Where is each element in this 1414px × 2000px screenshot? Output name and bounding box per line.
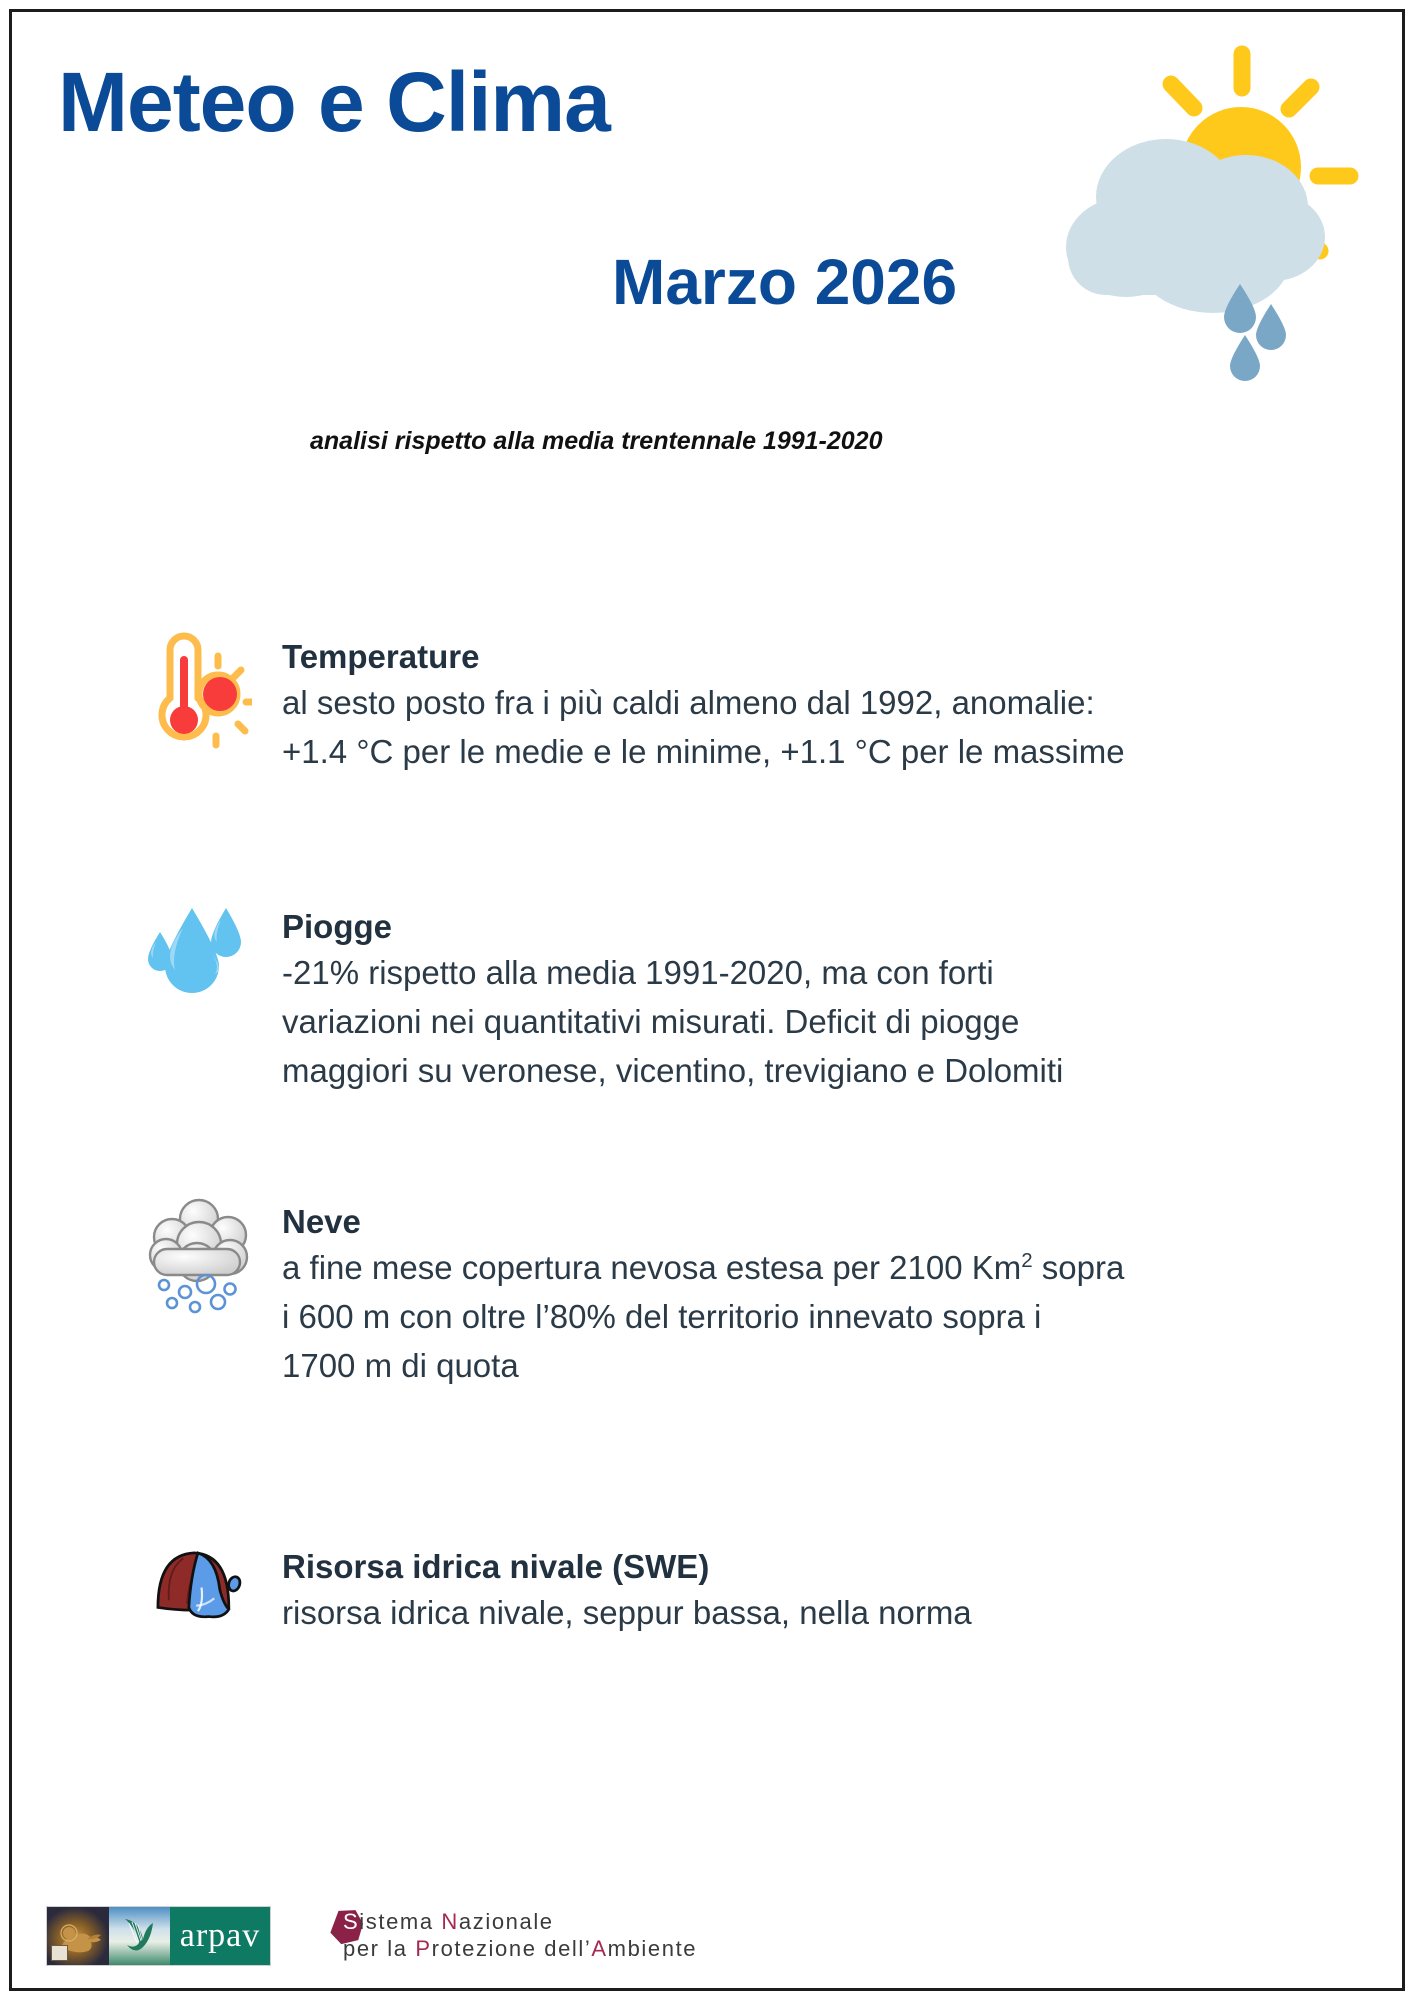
section-line: maggiori su veronese, vicentino, trevigi…	[282, 1047, 1372, 1096]
snpa-text-part: istema	[359, 1909, 441, 1934]
venetian-lion-icon	[47, 1907, 109, 1965]
raindrops-icon	[142, 902, 260, 1032]
snow-cloud-icon	[142, 1197, 260, 1327]
section-heading: Neve	[282, 1201, 1372, 1242]
lion-book-icon	[51, 1945, 68, 1961]
month-title: Marzo 2026	[612, 250, 957, 314]
page-title: Meteo e Clima	[58, 60, 610, 144]
arpav-logo: arpav	[46, 1906, 271, 1966]
section-heading: Risorsa idrica nivale (SWE)	[282, 1546, 1372, 1587]
thermometer-sun-icon	[142, 632, 260, 762]
section-heading: Piogge	[282, 906, 1372, 947]
section-swe-body: Risorsa idrica nivale (SWE) risorsa idri…	[260, 1542, 1372, 1638]
section-piogge-body: Piogge -21% rispetto alla media 1991-202…	[260, 902, 1372, 1096]
section-line: 1700 m di quota	[282, 1342, 1372, 1391]
snpa-a-initial: A	[591, 1936, 607, 1961]
snpa-logo: Sistema Nazionale per la Protezione dell…	[329, 1909, 697, 1963]
snpa-text-part: per la	[343, 1936, 415, 1961]
section-heading: Temperature	[282, 636, 1372, 677]
snpa-line-1: Sistema Nazionale	[343, 1909, 697, 1936]
section-swe: Risorsa idrica nivale (SWE) risorsa idri…	[142, 1542, 1372, 1672]
section-line: a fine mese copertura nevosa estesa per …	[282, 1244, 1372, 1293]
arpav-wordmark: arpav	[170, 1907, 270, 1965]
footer: arpav Sistema Nazionale per la Protezion…	[46, 1906, 697, 1966]
snow-water-equivalent-icon	[142, 1542, 260, 1672]
section-line: risorsa idrica nivale, seppur bassa, nel…	[282, 1589, 1372, 1638]
section-line: al sesto posto fra i più caldi almeno da…	[282, 679, 1372, 728]
sun-cloud-rain-icon	[1028, 32, 1378, 392]
section-neve-body: Neve a fine mese copertura nevosa estesa…	[260, 1197, 1372, 1391]
snpa-s-initial: S	[343, 1909, 359, 1934]
section-temperature-body: Temperature al sesto posto fra i più cal…	[260, 632, 1372, 777]
poster-frame: Meteo e Clima Marzo 2026 analisi rispett…	[9, 9, 1405, 1991]
snpa-n-initial: N	[441, 1909, 459, 1934]
snpa-line-2: per la Protezione dell’Ambiente	[343, 1936, 697, 1963]
snpa-text-part: mbiente	[608, 1936, 697, 1961]
poster-page: Meteo e Clima Marzo 2026 analisi rispett…	[0, 0, 1414, 2000]
section-line: -21% rispetto alla media 1991-2020, ma c…	[282, 949, 1372, 998]
section-temperature: Temperature al sesto posto fra i più cal…	[142, 632, 1372, 777]
section-piogge: Piogge -21% rispetto alla media 1991-202…	[142, 902, 1372, 1096]
section-line: i 600 m con oltre l’80% del territorio i…	[282, 1293, 1372, 1342]
arpav-v-mark-icon	[109, 1907, 170, 1965]
analysis-note: analisi rispetto alla media trentennale …	[310, 427, 883, 456]
snpa-text: Sistema Nazionale per la Protezione dell…	[329, 1909, 697, 1963]
section-line: +1.4 °C per le medie e le minime, +1.1 °…	[282, 728, 1372, 777]
section-neve: Neve a fine mese copertura nevosa estesa…	[142, 1197, 1372, 1391]
snpa-text-part: rotezione dell’	[432, 1936, 592, 1961]
snpa-p-initial: P	[415, 1936, 431, 1961]
snpa-text-part: azionale	[459, 1909, 554, 1934]
section-line: variazioni nei quantitativi misurati. De…	[282, 998, 1372, 1047]
